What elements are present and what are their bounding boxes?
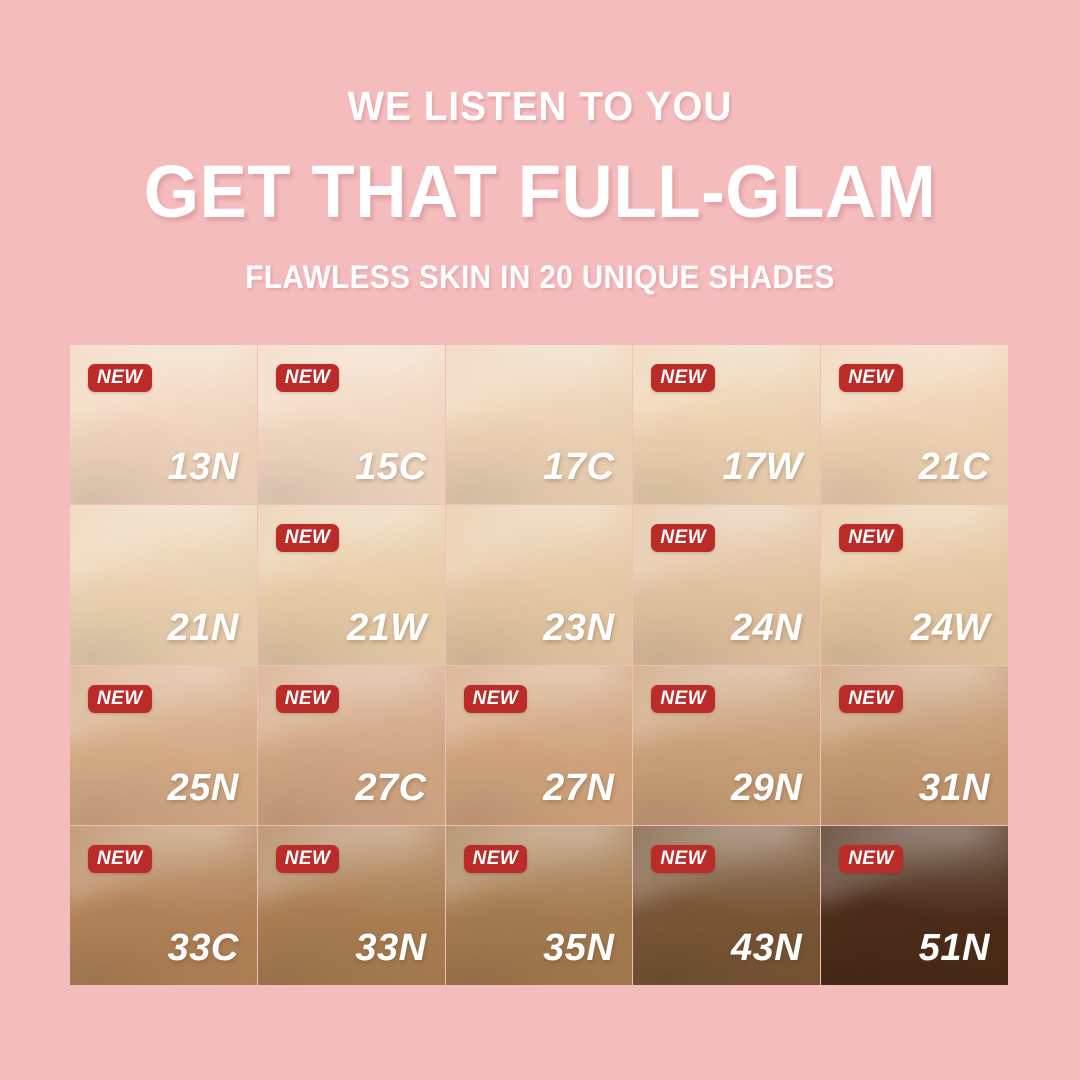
shade-swatch[interactable]: NEW24W [821, 505, 1008, 664]
shade-swatch[interactable]: NEW21W [258, 505, 445, 664]
shade-label: 24N [731, 609, 802, 647]
shade-swatch[interactable]: NEW29N [633, 666, 820, 825]
new-badge: NEW [88, 845, 152, 873]
new-badge: NEW [276, 524, 340, 552]
shade-swatch[interactable]: NEW27N [446, 666, 633, 825]
shade-label: 21N [168, 609, 239, 647]
shade-label: 17C [543, 448, 614, 486]
shade-swatch[interactable]: NEW33C [70, 826, 257, 985]
new-badge: NEW [276, 685, 340, 713]
shade-swatch[interactable]: NEW21C [821, 345, 1008, 504]
shade-swatch[interactable]: NEW23N [446, 505, 633, 664]
shade-swatch[interactable]: NEW13N [70, 345, 257, 504]
shade-swatch[interactable]: NEW43N [633, 826, 820, 985]
shade-label: 29N [731, 769, 802, 807]
shade-label: 23N [543, 609, 614, 647]
shade-label: 35N [543, 929, 614, 967]
new-badge: NEW [839, 685, 903, 713]
shade-label: 13N [168, 448, 239, 486]
shade-swatch[interactable]: NEW17W [633, 345, 820, 504]
new-badge: NEW [839, 524, 903, 552]
shade-label: 33N [355, 929, 426, 967]
shade-swatch[interactable]: NEW24N [633, 505, 820, 664]
shade-swatch[interactable]: NEW35N [446, 826, 633, 985]
new-badge: NEW [88, 685, 152, 713]
new-badge: NEW [651, 845, 715, 873]
shade-grid: NEW13NNEW15CNEW17CNEW17WNEW21CNEW21NNEW2… [70, 345, 1008, 985]
shade-label: 21W [347, 609, 427, 647]
shade-label: 24W [910, 609, 990, 647]
shade-label: 27C [355, 769, 426, 807]
shade-swatch[interactable]: NEW17C [446, 345, 633, 504]
subtitle-text: FLAWLESS SKIN IN 20 UNIQUE SHADES [38, 261, 1042, 293]
shade-label: 33C [168, 929, 239, 967]
shade-swatch[interactable]: NEW33N [258, 826, 445, 985]
shade-label: 31N [919, 769, 990, 807]
shade-label: 51N [919, 929, 990, 967]
shade-label: 21C [919, 448, 990, 486]
shade-swatch[interactable]: NEW15C [258, 345, 445, 504]
new-badge: NEW [651, 685, 715, 713]
shade-label: 43N [731, 929, 802, 967]
shade-label: 17W [723, 448, 803, 486]
new-badge: NEW [464, 685, 528, 713]
shade-label: 27N [543, 769, 614, 807]
shade-label: 15C [355, 448, 426, 486]
shade-swatch[interactable]: NEW31N [821, 666, 1008, 825]
new-badge: NEW [88, 364, 152, 392]
new-badge: NEW [464, 845, 528, 873]
new-badge: NEW [839, 845, 903, 873]
new-badge: NEW [276, 845, 340, 873]
new-badge: NEW [651, 524, 715, 552]
eyebrow-text: WE LISTEN TO YOU [32, 86, 1047, 127]
new-badge: NEW [276, 364, 340, 392]
shade-label: 25N [168, 769, 239, 807]
promo-header: WE LISTEN TO YOU GET THAT FULL-GLAM FLAW… [0, 0, 1080, 293]
shade-swatch[interactable]: NEW27C [258, 666, 445, 825]
shade-swatch[interactable]: NEW51N [821, 826, 1008, 985]
shade-swatch[interactable]: NEW25N [70, 666, 257, 825]
new-badge: NEW [839, 364, 903, 392]
new-badge: NEW [651, 364, 715, 392]
page-title: GET THAT FULL-GLAM [22, 155, 1059, 229]
shade-swatch[interactable]: NEW21N [70, 505, 257, 664]
